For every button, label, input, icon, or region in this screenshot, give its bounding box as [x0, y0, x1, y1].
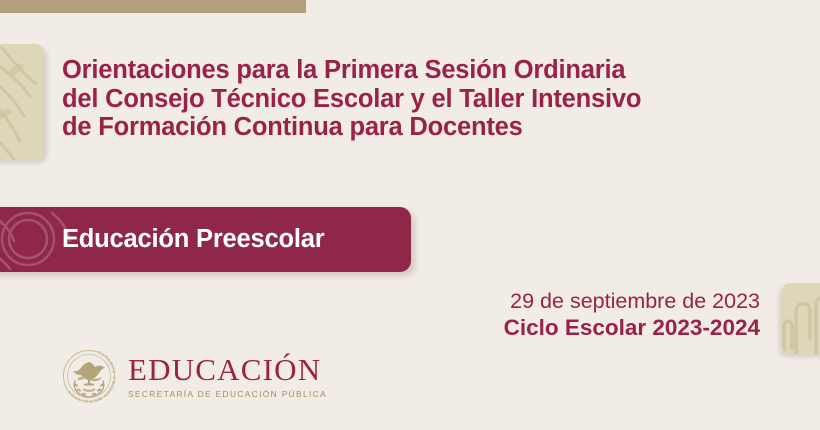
- education-level-label: Educación Preescolar: [62, 207, 324, 272]
- sep-wordmark: EDUCACIÓN: [128, 353, 327, 387]
- top-accent-bar: [0, 0, 306, 13]
- sep-logo: ESTADOS UNIDOS MEXICANOS: [58, 345, 327, 407]
- date-block: 29 de septiembre de 2023 Ciclo Escolar 2…: [340, 288, 760, 341]
- school-cycle: Ciclo Escolar 2023-2024: [340, 314, 760, 341]
- education-level-band: Educación Preescolar: [0, 207, 411, 272]
- title-line-2: del Consejo Técnico Escolar y el Taller …: [62, 85, 702, 114]
- page-title: Orientaciones para la Primera Sesión Ord…: [62, 56, 702, 142]
- slide-canvas: Orientaciones para la Primera Sesión Ord…: [0, 0, 820, 430]
- sep-subtitle: SECRETARÍA DE EDUCACIÓN PÚBLICA: [128, 388, 327, 400]
- title-line-1: Orientaciones para la Primera Sesión Ord…: [62, 56, 702, 85]
- sep-logo-text: EDUCACIÓN SECRETARÍA DE EDUCACIÓN PÚBLIC…: [128, 353, 327, 400]
- title-line-3: de Formación Continua para Docentes: [62, 113, 702, 142]
- decorative-tan-card-right: [782, 283, 820, 354]
- session-date: 29 de septiembre de 2023: [340, 288, 760, 314]
- decorative-tan-card-left: [0, 44, 44, 160]
- mexican-coat-of-arms-seal-icon: ESTADOS UNIDOS MEXICANOS: [58, 345, 120, 407]
